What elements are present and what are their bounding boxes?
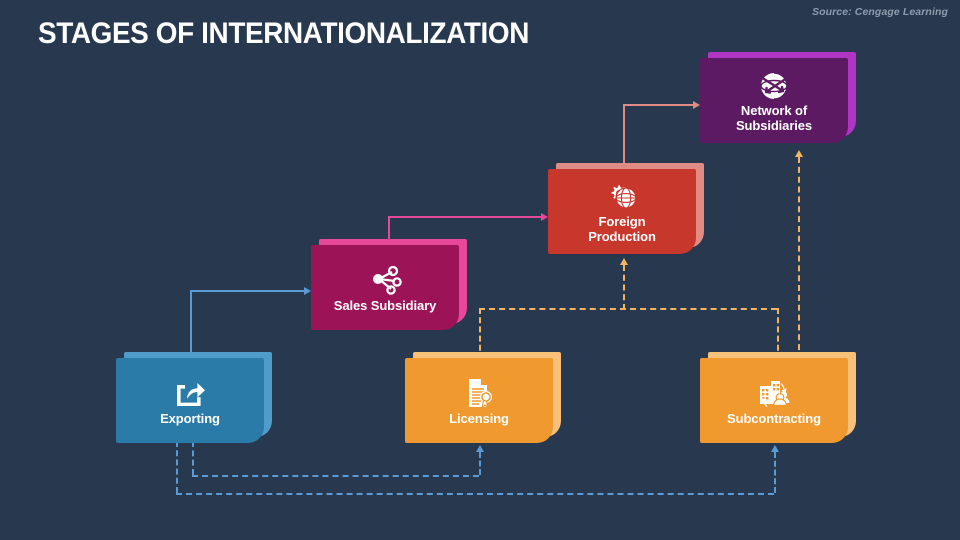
node-sales-subsidiary[interactable]: Sales Subsidiary — [311, 245, 459, 330]
connector-exporting-to-sales-subsidiary-vertical — [190, 290, 192, 360]
connector-exporting-to-sales-subsidiary-arrowhead — [304, 287, 311, 295]
connector-exporting-to-subcontracting-horizontal — [176, 493, 774, 495]
node-label-line2: Subsidiaries — [736, 118, 812, 133]
connector-exporting-to-subcontracting-down — [176, 441, 178, 493]
node-face: Subcontracting — [700, 358, 848, 443]
node-label-line2: Production — [588, 229, 656, 244]
connector-foreign-production-to-network-arrowhead — [693, 101, 700, 109]
node-licensing[interactable]: Licensing — [405, 358, 553, 443]
node-label: Foreign Production — [588, 214, 656, 244]
node-exporting[interactable]: Exporting — [116, 358, 264, 443]
connector-sales-subsidiary-to-foreign-production-arrowhead — [541, 213, 548, 221]
connector-exporting-to-subcontracting-up — [774, 452, 776, 493]
node-label: Sales Subsidiary — [334, 298, 436, 313]
node-face: Sales Subsidiary — [311, 245, 459, 330]
certificate-document-icon — [459, 376, 499, 410]
node-face: Licensing — [405, 358, 553, 443]
node-label-line1: Foreign — [599, 214, 646, 229]
node-label: Licensing — [449, 411, 509, 426]
connector-foreign-production-to-network-vertical — [623, 104, 625, 172]
slide-canvas: STAGES OF INTERNATIONALIZATION Source: C… — [0, 0, 960, 540]
node-label-line1: Network of — [741, 103, 807, 118]
network-hub-icon — [365, 263, 405, 297]
connector-subcontracting-to-network-arrowhead — [795, 150, 803, 157]
node-face: Network of Subsidiaries — [700, 58, 848, 143]
gear-globe-icon — [602, 180, 642, 214]
node-face: Foreign Production — [548, 169, 696, 254]
connector-foreign-production-to-network-horizontal — [623, 104, 693, 106]
connector-sales-subsidiary-to-foreign-production-horizontal — [388, 216, 541, 218]
export-share-icon — [170, 376, 210, 410]
connector-subcontracting-to-network-vertical — [798, 157, 800, 360]
connector-exporting-to-licensing-up — [479, 452, 481, 475]
connector-exporting-to-subcontracting-arrowhead — [771, 445, 779, 452]
page-title: STAGES OF INTERNATIONALIZATION — [38, 17, 529, 51]
node-label: Subcontracting — [727, 411, 821, 426]
connector-foreign-production-feed-arrowhead — [620, 258, 628, 265]
node-network-of-subsidiaries[interactable]: Network of Subsidiaries — [700, 58, 848, 143]
node-label: Network of Subsidiaries — [736, 103, 812, 133]
source-credit: Source: Cengage Learning — [812, 6, 948, 18]
connector-exporting-to-licensing-horizontal — [192, 475, 479, 477]
connector-exporting-to-sales-subsidiary-horizontal — [190, 290, 304, 292]
connector-exporting-to-licensing-down — [192, 441, 194, 475]
building-people-outsourcing-icon — [754, 376, 794, 410]
connector-exporting-to-licensing-arrowhead — [476, 445, 484, 452]
node-foreign-production[interactable]: Foreign Production — [548, 169, 696, 254]
node-label: Exporting — [160, 411, 220, 426]
node-face: Exporting — [116, 358, 264, 443]
connector-orange-bus-horizontal — [479, 308, 777, 310]
globe-arrows-icon — [754, 69, 794, 103]
connector-foreign-production-feed-vertical — [623, 265, 625, 310]
node-subcontracting[interactable]: Subcontracting — [700, 358, 848, 443]
